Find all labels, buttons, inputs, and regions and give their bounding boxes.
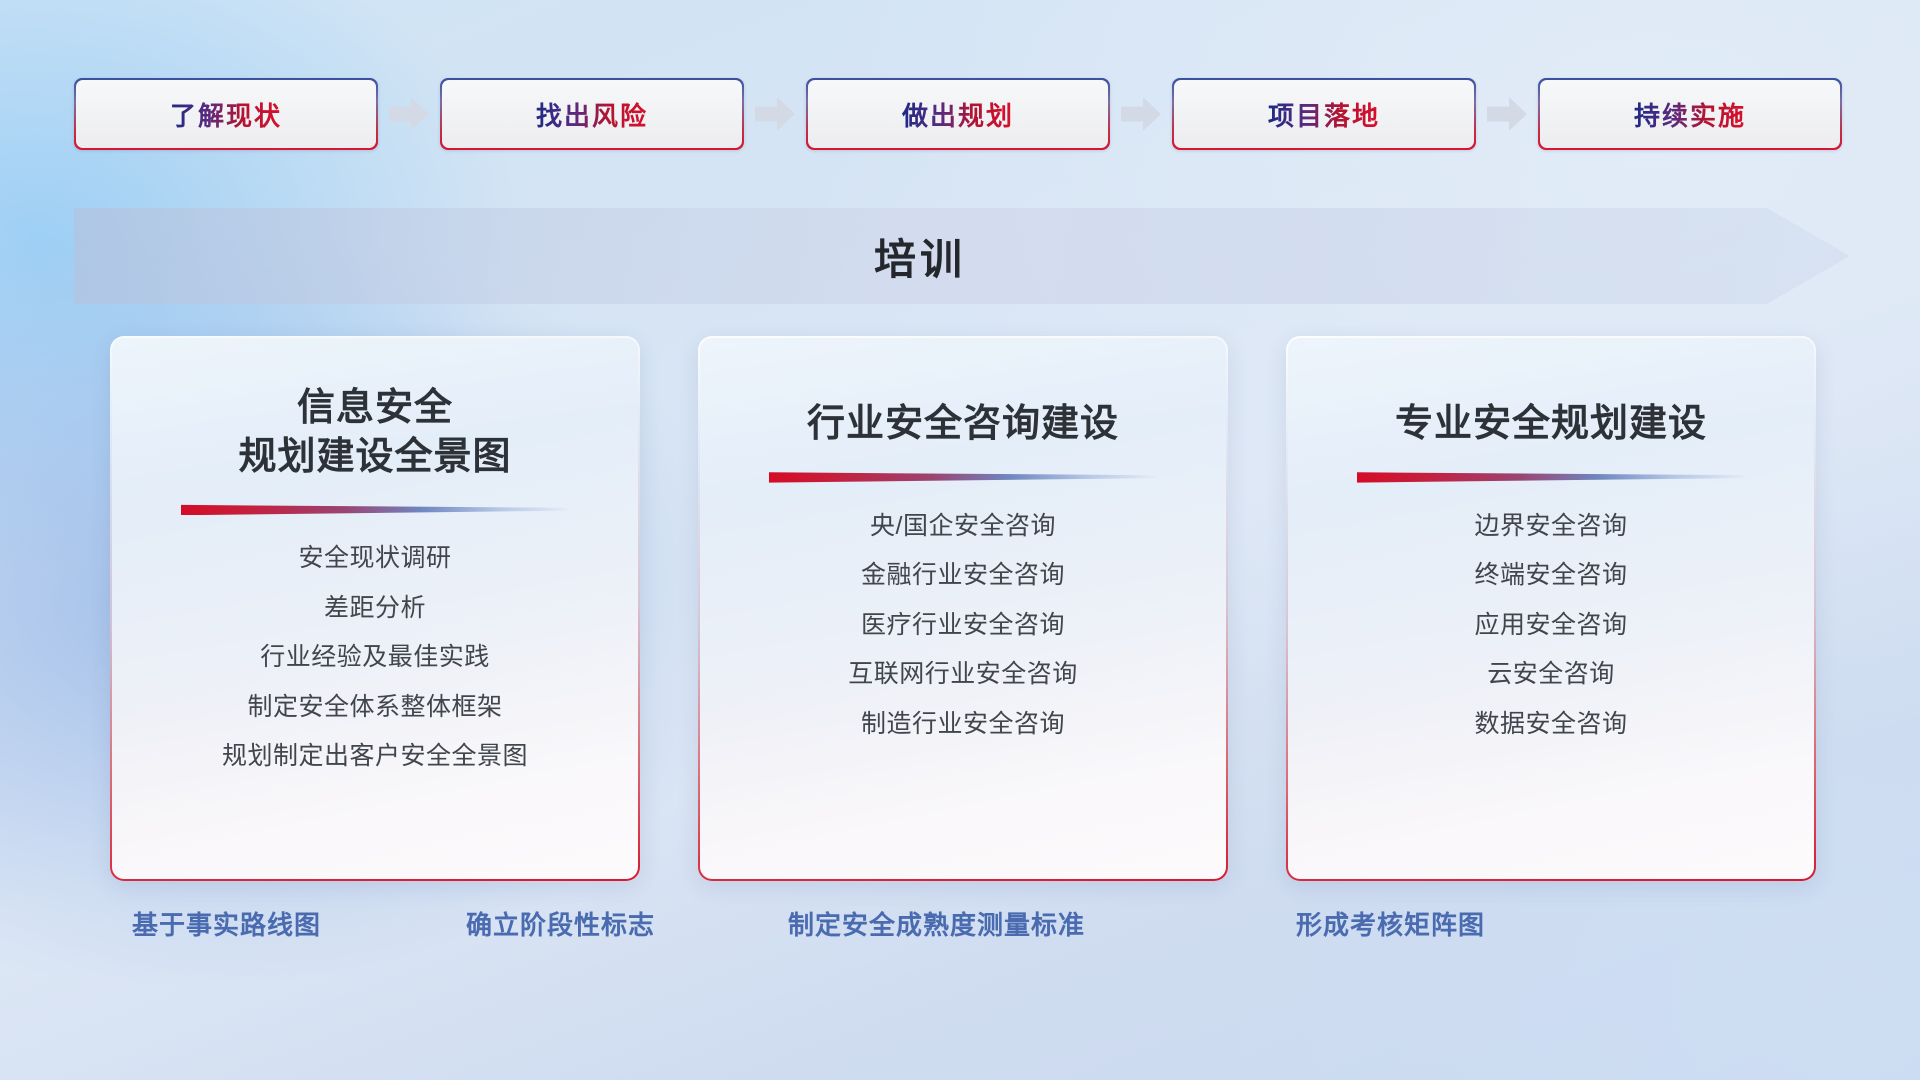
footer-caption-row: 基于事实路线图 确立阶段性标志 制定安全成熟度测量标准 形成考核矩阵图 (0, 905, 1920, 951)
step-box-3[interactable]: 做出规划 (806, 78, 1110, 150)
banner-label: 培训 (74, 208, 1850, 304)
step-label-4: 项目落地 (1268, 96, 1380, 133)
step-box-1[interactable]: 了解现状 (74, 78, 378, 150)
step-arrow-4 (1476, 93, 1538, 135)
list-item: 互联网行业安全咨询 (848, 657, 1078, 693)
footer-caption-4: 形成考核矩阵图 (1296, 905, 1485, 942)
card-2-list: 央/国企安全咨询 金融行业安全咨询 医疗行业安全咨询 互联网行业安全咨询 制造行… (848, 509, 1078, 743)
step-label-3: 做出规划 (902, 96, 1014, 133)
step-label-1: 了解现状 (170, 96, 282, 133)
card-2-title: 行业安全咨询建设 (807, 400, 1119, 449)
footer-caption-2: 确立阶段性标志 (466, 905, 655, 942)
gradient-rule-icon (1357, 471, 1745, 483)
step-arrow-1 (378, 93, 440, 135)
step-box-5[interactable]: 持续实施 (1538, 78, 1842, 150)
card-2-divider (769, 471, 1157, 483)
step-inner-1: 了解现状 (76, 80, 376, 148)
step-inner-5: 持续实施 (1540, 80, 1840, 148)
step-label-5: 持续实施 (1634, 96, 1746, 133)
card-3-title: 专业安全规划建设 (1395, 400, 1707, 449)
list-item: 边界安全咨询 (1474, 509, 1627, 545)
footer-caption-3: 制定安全成熟度测量标准 (788, 905, 1085, 942)
card-2[interactable]: 行业安全咨询建设 央/国企安全咨询 金融行业安全咨询 医疗行业安全咨询 互联网行… (698, 336, 1228, 881)
list-item: 云安全咨询 (1487, 657, 1615, 693)
training-banner: 培训 (74, 208, 1850, 304)
card-row: 信息安全 规划建设全景图 安全现状调研 差距分析 行业经验及最佳实践 制定安全体… (110, 336, 1816, 881)
card-1-title: 信息安全 规划建设全景图 (238, 384, 511, 481)
gradient-rule-icon (769, 471, 1157, 483)
step-inner-4: 项目落地 (1174, 80, 1474, 148)
list-item: 行业经验及最佳实践 (260, 640, 490, 676)
card-3[interactable]: 专业安全规划建设 边界安全咨询 终端安全咨询 应用安全咨询 云安全咨询 数据安全… (1286, 336, 1816, 881)
card-1-inner: 信息安全 规划建设全景图 安全现状调研 差距分析 行业经验及最佳实践 制定安全体… (112, 338, 638, 879)
step-arrow-3 (1110, 93, 1172, 135)
list-item: 安全现状调研 (298, 541, 451, 577)
list-item: 医疗行业安全咨询 (861, 608, 1065, 644)
list-item: 终端安全咨询 (1474, 558, 1627, 594)
list-item: 金融行业安全咨询 (861, 558, 1065, 594)
card-1-list: 安全现状调研 差距分析 行业经验及最佳实践 制定安全体系整体框架 规划制定出客户… (222, 541, 528, 775)
step-label-2: 找出风险 (536, 96, 648, 133)
card-3-inner: 专业安全规划建设 边界安全咨询 终端安全咨询 应用安全咨询 云安全咨询 数据安全… (1288, 338, 1814, 879)
card-3-list: 边界安全咨询 终端安全咨询 应用安全咨询 云安全咨询 数据安全咨询 (1474, 509, 1627, 743)
slide-canvas: 了解现状 找出风险 做出规划 项目落地 持续实施 (0, 0, 1920, 1080)
list-item: 央/国企安全咨询 (870, 509, 1056, 545)
card-2-inner: 行业安全咨询建设 央/国企安全咨询 金融行业安全咨询 医疗行业安全咨询 互联网行… (700, 338, 1226, 879)
step-inner-3: 做出规划 (808, 80, 1108, 148)
step-arrow-2 (744, 93, 806, 135)
footer-caption-1: 基于事实路线图 (132, 905, 321, 942)
arrow-right-icon (755, 97, 795, 131)
list-item: 应用安全咨询 (1474, 608, 1627, 644)
arrow-right-icon (1121, 97, 1161, 131)
card-1-divider (181, 503, 569, 515)
card-3-divider (1357, 471, 1745, 483)
arrow-right-icon (389, 97, 429, 131)
list-item: 差距分析 (324, 591, 426, 627)
step-box-2[interactable]: 找出风险 (440, 78, 744, 150)
list-item: 制定安全体系整体框架 (247, 690, 502, 726)
arrow-right-icon (1487, 97, 1527, 131)
card-1[interactable]: 信息安全 规划建设全景图 安全现状调研 差距分析 行业经验及最佳实践 制定安全体… (110, 336, 640, 881)
process-step-row: 了解现状 找出风险 做出规划 项目落地 持续实施 (74, 78, 1846, 150)
gradient-rule-icon (181, 503, 569, 515)
list-item: 规划制定出客户安全全景图 (222, 739, 528, 775)
list-item: 数据安全咨询 (1474, 707, 1627, 743)
step-box-4[interactable]: 项目落地 (1172, 78, 1476, 150)
step-inner-2: 找出风险 (442, 80, 742, 148)
list-item: 制造行业安全咨询 (861, 707, 1065, 743)
